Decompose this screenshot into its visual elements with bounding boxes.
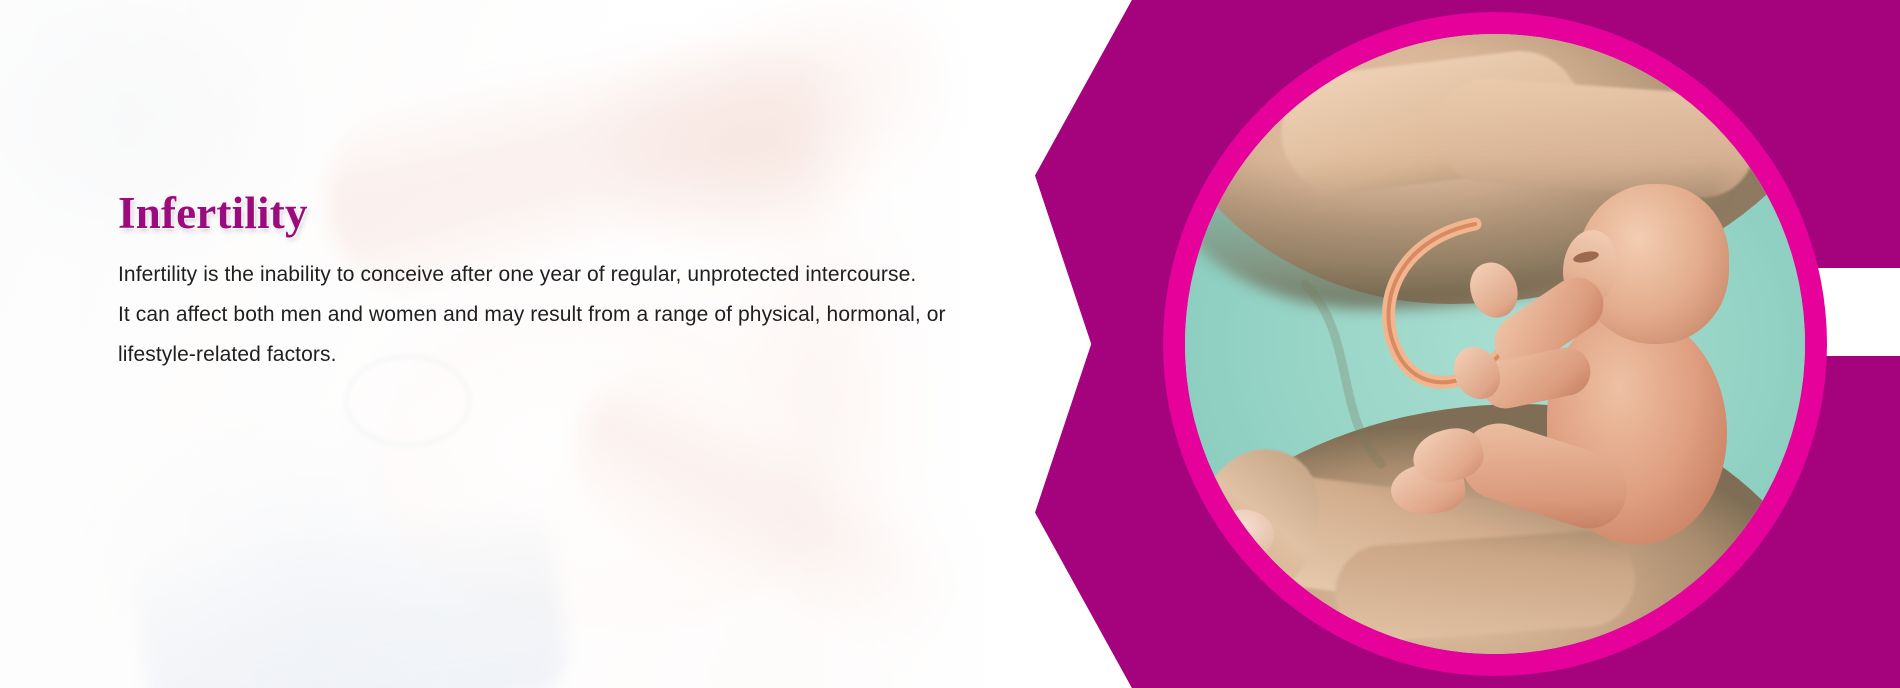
page-title: Infertility xyxy=(118,190,1118,237)
body-line-1: Infertility is the inability to conceive… xyxy=(118,255,1118,295)
hero-copy-block: Infertility Infertility is the inability… xyxy=(118,190,1118,375)
infertility-hero-banner: Infertility Infertility is the inability… xyxy=(0,0,1900,688)
body-line-3: lifestyle-related factors. xyxy=(118,335,1118,375)
circle-image-fetus-in-hands xyxy=(1163,12,1827,676)
body-line-2: It can affect both men and women and may… xyxy=(118,295,1118,335)
circle-inner-illustration xyxy=(1185,34,1805,654)
